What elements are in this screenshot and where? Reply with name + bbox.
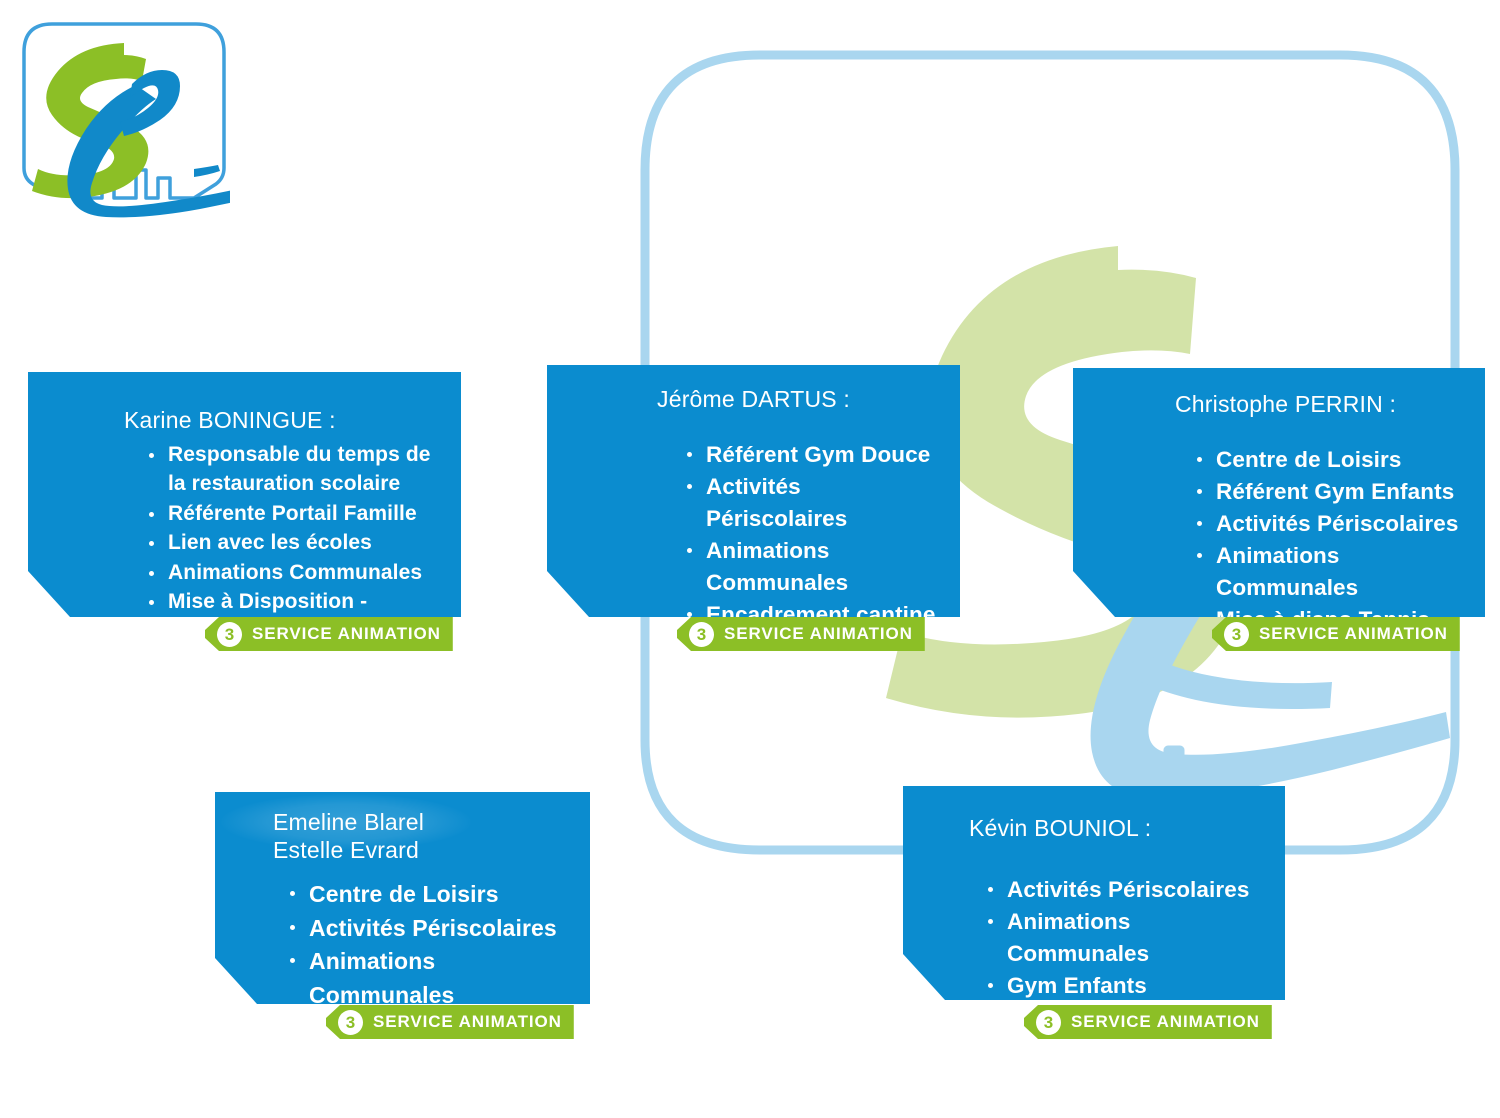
list-item: Centre de Loisirs — [1190, 444, 1465, 476]
card-title-kevin: Kévin BOUNIOL : — [969, 814, 1267, 842]
sainte-consorce-logo — [18, 18, 230, 230]
list-item: Animations Communales — [142, 558, 441, 587]
person-card-kevin[interactable]: Kévin BOUNIOL : Activités Périscolaires … — [903, 786, 1285, 1000]
badge-label: SERVICE ANIMATION — [1259, 624, 1448, 644]
card-title-karine: Karine BONINGUE : — [124, 406, 441, 434]
card-title-christophe: Christophe PERRIN : — [1175, 390, 1465, 418]
person-card-karine[interactable]: Karine BONINGUE : Responsable du temps d… — [28, 372, 461, 617]
badge-number: 3 — [1224, 622, 1249, 647]
service-badge-emeline-estelle[interactable]: 3 SERVICE ANIMATION — [326, 1005, 574, 1039]
badge-number: 3 — [338, 1010, 363, 1035]
service-badge-karine[interactable]: 3 SERVICE ANIMATION — [205, 617, 453, 651]
badge-label: SERVICE ANIMATION — [724, 624, 913, 644]
service-badge-christophe[interactable]: 3 SERVICE ANIMATION — [1212, 617, 1460, 651]
person-card-emeline-estelle[interactable]: Emeline Blarel Estelle Evrard Centre de … — [215, 792, 590, 1004]
list-item: Centre de Loisirs — [283, 878, 572, 912]
logo-blue-e-dash — [194, 165, 220, 177]
service-badge-kevin[interactable]: 3 SERVICE ANIMATION — [1024, 1005, 1272, 1039]
list-item: Animations Communales — [680, 535, 940, 599]
badge-label: SERVICE ANIMATION — [252, 624, 441, 644]
card-responsibility-list: Responsable du temps de la restauration … — [142, 440, 441, 646]
list-item: Animations Communales — [981, 906, 1267, 970]
list-item: Référente Portail Famille — [142, 499, 441, 528]
person-card-christophe[interactable]: Christophe PERRIN : Centre de Loisirs Ré… — [1073, 368, 1485, 617]
badge-label: SERVICE ANIMATION — [373, 1012, 562, 1032]
list-item: Référent Gym Douce — [680, 439, 940, 471]
list-item: Référent Gym Enfants — [1190, 476, 1465, 508]
list-item: Lien avec les écoles — [142, 528, 441, 557]
list-item: Activités Périscolaires — [283, 912, 572, 946]
person-card-jerome[interactable]: Jérôme DARTUS : Référent Gym Douce Activ… — [547, 365, 960, 617]
watermark-blue-e-tail — [1126, 650, 1332, 709]
list-item: Responsable du temps de la restauration … — [142, 440, 441, 499]
service-badge-jerome[interactable]: 3 SERVICE ANIMATION — [677, 617, 925, 651]
list-item: Activités Périscolaires — [1190, 508, 1465, 540]
list-item: Activités Périscolaires — [981, 874, 1267, 906]
list-item: Animations Communales — [1190, 540, 1465, 604]
badge-label: SERVICE ANIMATION — [1071, 1012, 1260, 1032]
badge-number: 3 — [217, 622, 242, 647]
list-item: Activités Périscolaires — [680, 471, 940, 535]
card-title-jerome: Jérôme DARTUS : — [657, 385, 940, 413]
list-item: Animations Communales — [283, 945, 572, 1012]
badge-number: 3 — [1036, 1010, 1061, 1035]
card-title-emeline-estelle: Emeline Blarel Estelle Evrard — [273, 808, 572, 864]
list-item: Gym Enfants — [981, 970, 1267, 1002]
badge-number: 3 — [689, 622, 714, 647]
